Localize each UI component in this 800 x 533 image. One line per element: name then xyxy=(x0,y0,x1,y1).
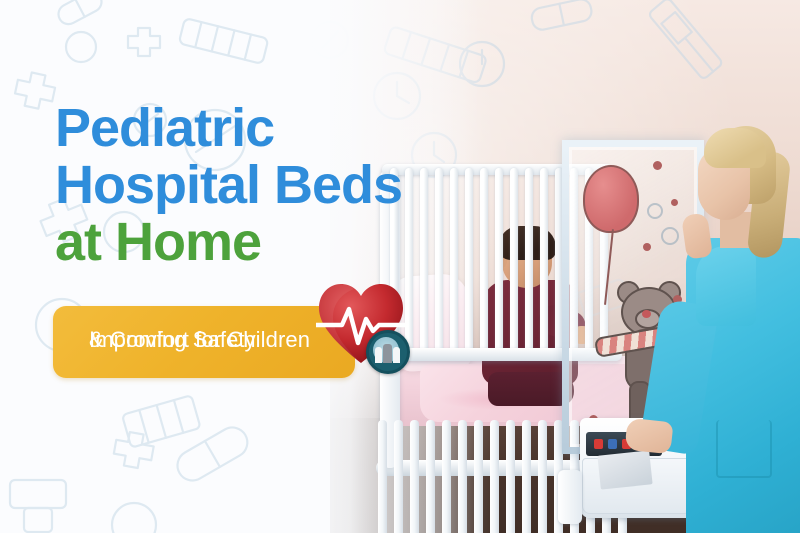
nurse-scrubs-pocket xyxy=(716,420,772,478)
bed-lower-slat xyxy=(474,420,483,533)
bed-rail-slat xyxy=(435,168,443,353)
bed-rail-slat xyxy=(480,168,488,353)
nurse-hair-front xyxy=(704,128,766,168)
bed-rail-slat xyxy=(510,168,518,353)
bed-lower-slat xyxy=(426,420,435,533)
control-led-red[interactable] xyxy=(594,439,603,449)
bed-lower-slat xyxy=(490,420,499,533)
bed-lower-slat xyxy=(538,420,547,533)
bed-rail-slat xyxy=(495,168,503,353)
bed-rail-slat xyxy=(540,168,548,353)
decor-dot xyxy=(671,199,678,206)
subtitle-banner: Improving Safety& Comfort for Children xyxy=(53,306,355,378)
bed-lower-slat xyxy=(410,420,419,533)
decor-dot xyxy=(643,243,651,251)
balloon-graphic xyxy=(583,165,639,233)
subtitle-text: Improving Safety& Comfort for Children xyxy=(71,316,347,344)
sanitizer-bottle xyxy=(558,470,582,524)
badge-figure-right xyxy=(393,347,400,363)
page-title: Pediatric Hospital Beds at Home xyxy=(55,100,402,272)
headline-line-2: Hospital Beds xyxy=(55,157,402,214)
headline-line-1: Pediatric xyxy=(55,100,402,157)
badge-figure-left xyxy=(375,347,382,363)
bed-rail-slat xyxy=(465,168,473,353)
decor-circle xyxy=(661,227,679,245)
bed-lower-slat xyxy=(506,420,515,533)
bed-rail-slat xyxy=(525,168,533,353)
decor-dot xyxy=(653,161,662,170)
pediatric-hospital-beds-banner: 7 Pediatric Hospital Beds at xyxy=(0,0,800,533)
medical-team-badge-icon xyxy=(366,330,410,374)
bed-lower-slat xyxy=(522,420,531,533)
headline-line-3: at Home xyxy=(55,214,402,271)
storage-bin xyxy=(582,458,692,514)
nurse-hand-on-controls xyxy=(624,418,673,455)
decor-circle xyxy=(647,203,663,219)
nurse-caregiver xyxy=(690,120,800,533)
chart-paper xyxy=(597,450,652,489)
nurse-shoulder xyxy=(696,246,756,326)
bed-rail-slat xyxy=(450,168,458,353)
bed-lower-slat xyxy=(394,420,403,533)
bed-rail-slat xyxy=(405,168,413,353)
badge-figure-center xyxy=(383,344,392,363)
bed-lower-slat xyxy=(442,420,451,533)
teddy-nose xyxy=(642,310,651,318)
bed-lower-slat xyxy=(458,420,467,533)
bed-lower-slat xyxy=(378,420,387,533)
control-led-blue[interactable] xyxy=(608,439,617,449)
nurse-hand-on-panel xyxy=(681,212,713,259)
bed-rail-slat xyxy=(420,168,428,353)
